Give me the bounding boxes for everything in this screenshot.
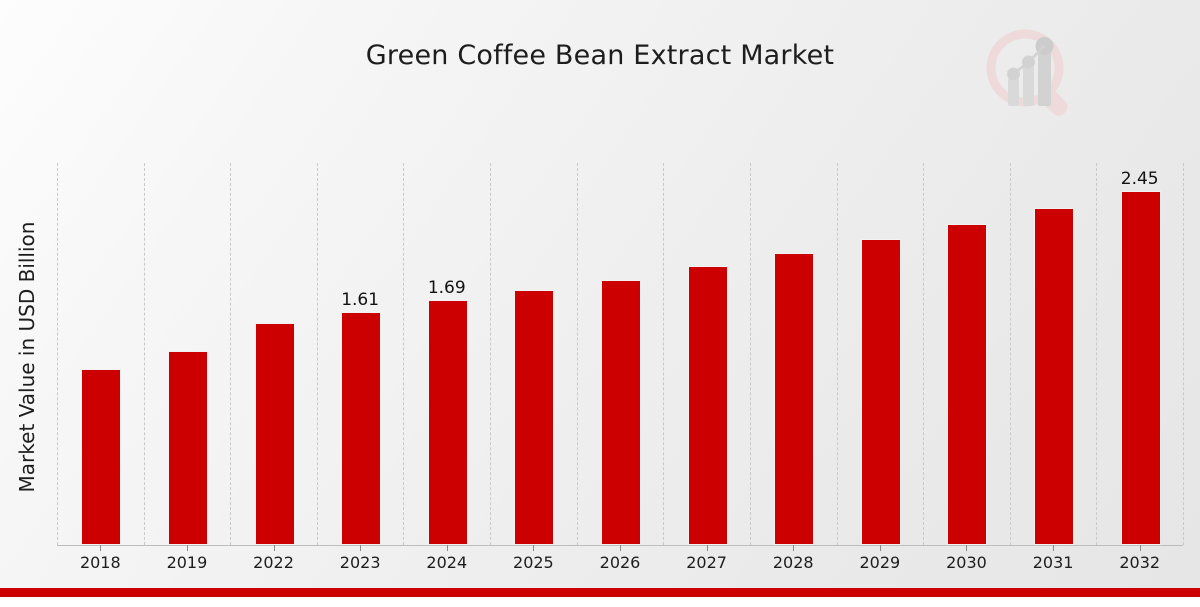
x-tick [793, 545, 794, 551]
bar-2031[interactable] [1034, 208, 1074, 545]
x-tick-label-2019: 2019 [147, 553, 227, 572]
x-tick [1140, 545, 1141, 551]
gridline [837, 163, 838, 545]
x-tick [447, 545, 448, 551]
x-tick-label-2031: 2031 [1013, 553, 1093, 572]
plot-area [57, 163, 1183, 545]
gridline [750, 163, 751, 545]
data-label-2024: 1.69 [412, 278, 482, 298]
x-tick-label-2025: 2025 [493, 553, 573, 572]
x-tick [1053, 545, 1054, 551]
y-axis-label: Market Value in USD Billion [15, 107, 39, 607]
gridline [144, 163, 145, 545]
x-tick [707, 545, 708, 551]
bar-2027[interactable] [688, 266, 728, 545]
bar-2030[interactable] [947, 224, 987, 545]
bar-2028[interactable] [774, 253, 814, 545]
x-tick [100, 545, 101, 551]
gridline [663, 163, 664, 545]
footer-accent-bar [0, 588, 1200, 597]
chart-figure: Green Coffee Bean Extract Market Market … [0, 0, 1200, 600]
x-tick-label-2030: 2030 [926, 553, 1006, 572]
gridline [403, 163, 404, 545]
bar-2024[interactable] [428, 300, 468, 545]
gridline [923, 163, 924, 545]
bar-2019[interactable] [168, 351, 208, 545]
bar-2029[interactable] [861, 239, 901, 545]
bar-2025[interactable] [514, 290, 554, 545]
x-tick-label-2026: 2026 [580, 553, 660, 572]
gridline [1183, 163, 1184, 545]
bar-2022[interactable] [255, 323, 295, 545]
x-tick-label-2029: 2029 [840, 553, 920, 572]
data-label-2023: 1.61 [325, 290, 395, 310]
bar-2032[interactable] [1121, 191, 1161, 545]
magnifier-bar-chart-logo-icon [975, 22, 1083, 122]
x-tick [880, 545, 881, 551]
bar-2026[interactable] [601, 280, 641, 545]
x-tick [533, 545, 534, 551]
x-tick [187, 545, 188, 551]
x-tick-label-2032: 2032 [1100, 553, 1180, 572]
x-tick [360, 545, 361, 551]
gridline [317, 163, 318, 545]
bar-2018[interactable] [81, 369, 121, 545]
x-tick [274, 545, 275, 551]
gridline [1096, 163, 1097, 545]
gridline [490, 163, 491, 545]
x-tick-label-2023: 2023 [320, 553, 400, 572]
gridline [57, 163, 58, 545]
gridline [1010, 163, 1011, 545]
x-tick-label-2027: 2027 [667, 553, 747, 572]
data-label-2032: 2.45 [1105, 169, 1175, 189]
bar-2023[interactable] [341, 312, 381, 545]
x-tick [966, 545, 967, 551]
gridline [230, 163, 231, 545]
gridline [577, 163, 578, 545]
x-tick-label-2018: 2018 [60, 553, 140, 572]
chart-title: Green Coffee Bean Extract Market [0, 40, 1200, 71]
x-tick-label-2024: 2024 [407, 553, 487, 572]
x-tick-label-2022: 2022 [234, 553, 314, 572]
x-tick [620, 545, 621, 551]
x-tick-label-2028: 2028 [753, 553, 833, 572]
